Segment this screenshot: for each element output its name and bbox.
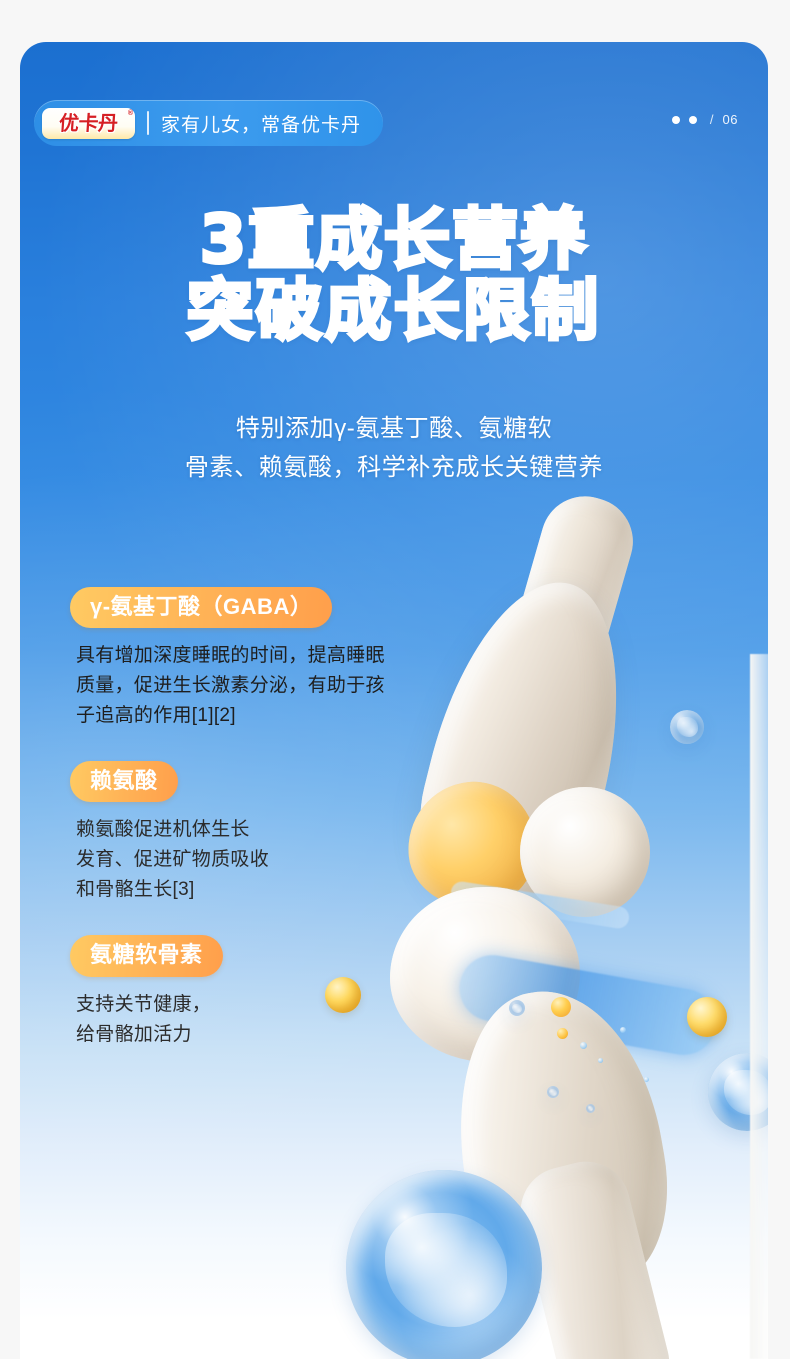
yellow-sphere-icon bbox=[687, 997, 727, 1037]
feature-description-lysine: 赖氨酸促进机体生长 发育、促进矿物质吸收 和骨骼生长[3] bbox=[70, 815, 500, 905]
brand-tagline-pill[interactable]: 优卡丹 ® 家有儿女，常备优卡丹 bbox=[34, 100, 383, 146]
pager-total: 06 bbox=[723, 112, 738, 127]
title-line-2: 突破成长限制 bbox=[20, 275, 768, 346]
screenshot-root: 优卡丹 ® 家有儿女，常备优卡丹 / 06 3重成长营养 突破成长限制 特别添加… bbox=[0, 0, 790, 1359]
brand-logo[interactable]: 优卡丹 ® bbox=[42, 108, 135, 139]
feature-badge-gaba[interactable]: γ-氨基丁酸（GABA） bbox=[70, 587, 332, 628]
brand-logo-text: 优卡丹 bbox=[59, 113, 119, 133]
feature-badge-lysine[interactable]: 赖氨酸 bbox=[70, 761, 178, 802]
registered-mark-icon: ® bbox=[128, 110, 133, 117]
divider bbox=[147, 111, 149, 135]
feature-description-gaba: 具有增加深度睡眠的时间，提高睡眠 质量，促进生长激素分泌，有助于孩 子追高的作用… bbox=[70, 641, 500, 731]
blue-bone-bubble-icon bbox=[547, 1086, 559, 1098]
blue-bone-bubble-icon bbox=[346, 1170, 542, 1359]
pager-separator: / bbox=[710, 112, 714, 127]
card-right-edge-panel bbox=[750, 654, 768, 1359]
blue-bone-bubble-icon bbox=[509, 1000, 525, 1016]
lateral-condyle-icon bbox=[520, 787, 650, 917]
sparkle-icon bbox=[598, 1058, 603, 1063]
feature-item-lysine: 赖氨酸 赖氨酸促进机体生长 发育、促进矿物质吸收 和骨骼生长[3] bbox=[70, 761, 500, 905]
yellow-sphere-icon bbox=[557, 1028, 568, 1039]
hero-subtitle: 特别添加γ-氨基丁酸、氨糖软 骨素、赖氨酸，科学补充成长关键营养 bbox=[20, 410, 768, 488]
feature-list: γ-氨基丁酸（GABA） 具有增加深度睡眠的时间，提高睡眠 质量，促进生长激素分… bbox=[70, 587, 500, 1072]
feature-item-gaba: γ-氨基丁酸（GABA） 具有增加深度睡眠的时间，提高睡眠 质量，促进生长激素分… bbox=[70, 587, 500, 731]
page-title: 3重成长营养 突破成长限制 bbox=[20, 204, 768, 347]
blue-bone-bubble-icon bbox=[670, 710, 704, 744]
feature-item-glucosamine: 氨糖软骨素 支持关节健康， 给骨骼加活力 bbox=[70, 935, 500, 1049]
pager-dot[interactable] bbox=[672, 116, 680, 124]
promo-card: 优卡丹 ® 家有儿女，常备优卡丹 / 06 3重成长营养 突破成长限制 特别添加… bbox=[20, 42, 768, 1359]
card-header: 优卡丹 ® 家有儿女，常备优卡丹 / 06 bbox=[20, 100, 768, 146]
brand-tagline: 家有儿女，常备优卡丹 bbox=[161, 110, 361, 137]
page-indicator[interactable]: / 06 bbox=[672, 112, 738, 127]
title-line-1: 3重成长营养 bbox=[200, 201, 588, 278]
tibia-shaft-icon bbox=[511, 1152, 678, 1359]
blue-bone-bubble-icon bbox=[586, 1104, 595, 1113]
femur-shaft-icon bbox=[489, 486, 644, 742]
yellow-sphere-icon bbox=[551, 997, 571, 1017]
sparkle-icon bbox=[580, 1042, 587, 1049]
pager-dot[interactable] bbox=[689, 116, 697, 124]
sparkle-icon bbox=[644, 1077, 649, 1082]
feature-badge-glucosamine[interactable]: 氨糖软骨素 bbox=[70, 935, 223, 976]
sparkle-icon bbox=[620, 1027, 626, 1033]
hero-title-block: 3重成长营养 突破成长限制 bbox=[20, 204, 768, 347]
feature-description-glucosamine: 支持关节健康， 给骨骼加活力 bbox=[70, 990, 500, 1050]
